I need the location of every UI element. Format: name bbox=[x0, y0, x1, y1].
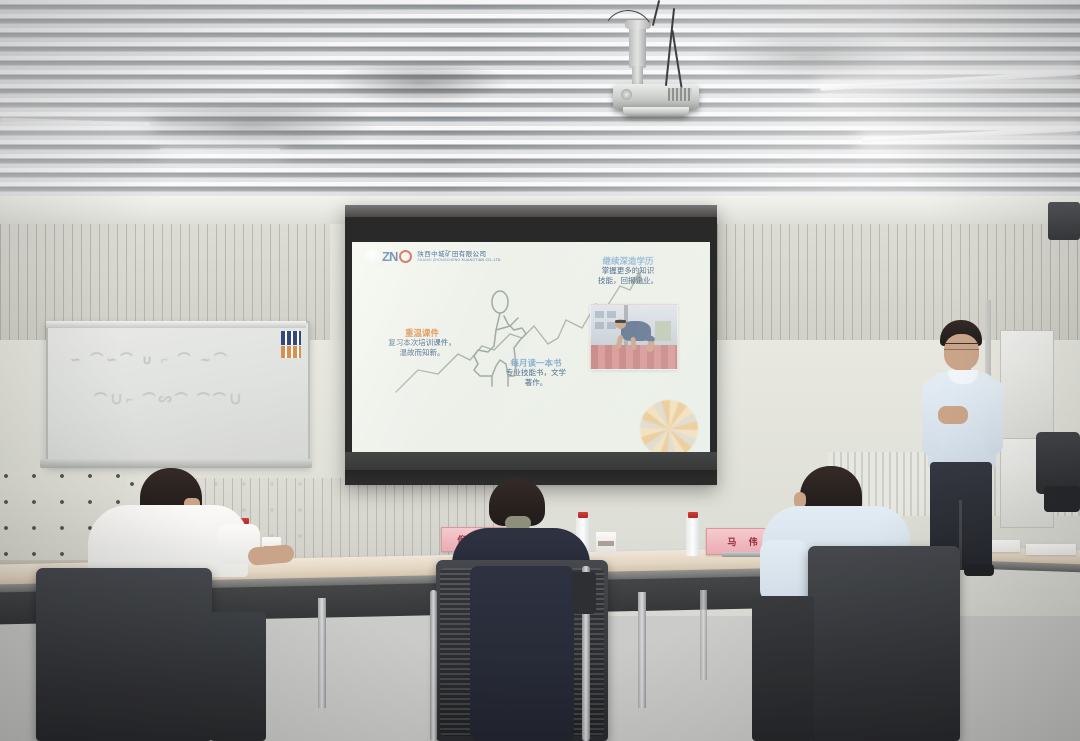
whiteboard-magnet[interactable] bbox=[281, 346, 301, 358]
ceiling-light-tube bbox=[160, 148, 280, 151]
chair-left[interactable] bbox=[36, 568, 212, 741]
presenter-hands bbox=[938, 406, 968, 424]
screen-glare bbox=[352, 242, 710, 452]
attendee-sleeve bbox=[760, 540, 808, 602]
whiteboard-writing: ⌒∪⌐ ⌒∽⌒ ⌒⌒∪ bbox=[94, 389, 245, 408]
chair-left-seat[interactable] bbox=[210, 612, 266, 741]
chair-right-side[interactable] bbox=[752, 596, 814, 741]
wall-device bbox=[1048, 202, 1080, 240]
attendee-center-body-front bbox=[470, 566, 574, 741]
wall-cabinet bbox=[1000, 330, 1054, 440]
chair-far-right[interactable] bbox=[1036, 432, 1080, 494]
presenter-glasses-icon bbox=[944, 343, 979, 350]
presenter-shoe bbox=[964, 564, 994, 576]
whiteboard-top-rail bbox=[46, 321, 306, 328]
meeting-room-photo: ZN 陕西中城矿田有限公司 SHANXI ZHONGCHENG KUANGTIA… bbox=[0, 0, 1080, 741]
screen-top-bar bbox=[345, 205, 717, 217]
paper-sheet bbox=[1026, 544, 1076, 555]
projected-slide: ZN 陕西中城矿田有限公司 SHANXI ZHONGCHENG KUANGTIA… bbox=[352, 242, 710, 452]
desk-leg bbox=[318, 598, 326, 708]
chair-center-frame[interactable] bbox=[430, 590, 437, 741]
chair-center-armrest[interactable] bbox=[572, 572, 596, 614]
whiteboard: ∽ ⌒∽⌒ ∪ ⌐ ⌒ ∼⌒ ⌒∪⌐ ⌒∽⌒ ⌒⌒∪ bbox=[46, 321, 310, 467]
wall-slat-strip bbox=[717, 224, 1080, 342]
whiteboard-pen-tray bbox=[40, 459, 312, 468]
nameplate-text: 马 伟 bbox=[727, 535, 762, 548]
chair-far-right-seat[interactable] bbox=[1044, 486, 1080, 512]
whiteboard-writing: ∽ ⌒∽⌒ ∪ ⌐ ⌒ ∼⌒ bbox=[70, 349, 230, 368]
whiteboard-magnet[interactable] bbox=[281, 331, 301, 345]
slatted-ceiling bbox=[0, 0, 1080, 205]
desk-leg bbox=[700, 590, 707, 680]
presenter-arm bbox=[985, 380, 1003, 454]
desk-leg bbox=[638, 592, 646, 708]
chair-right[interactable] bbox=[808, 546, 960, 741]
